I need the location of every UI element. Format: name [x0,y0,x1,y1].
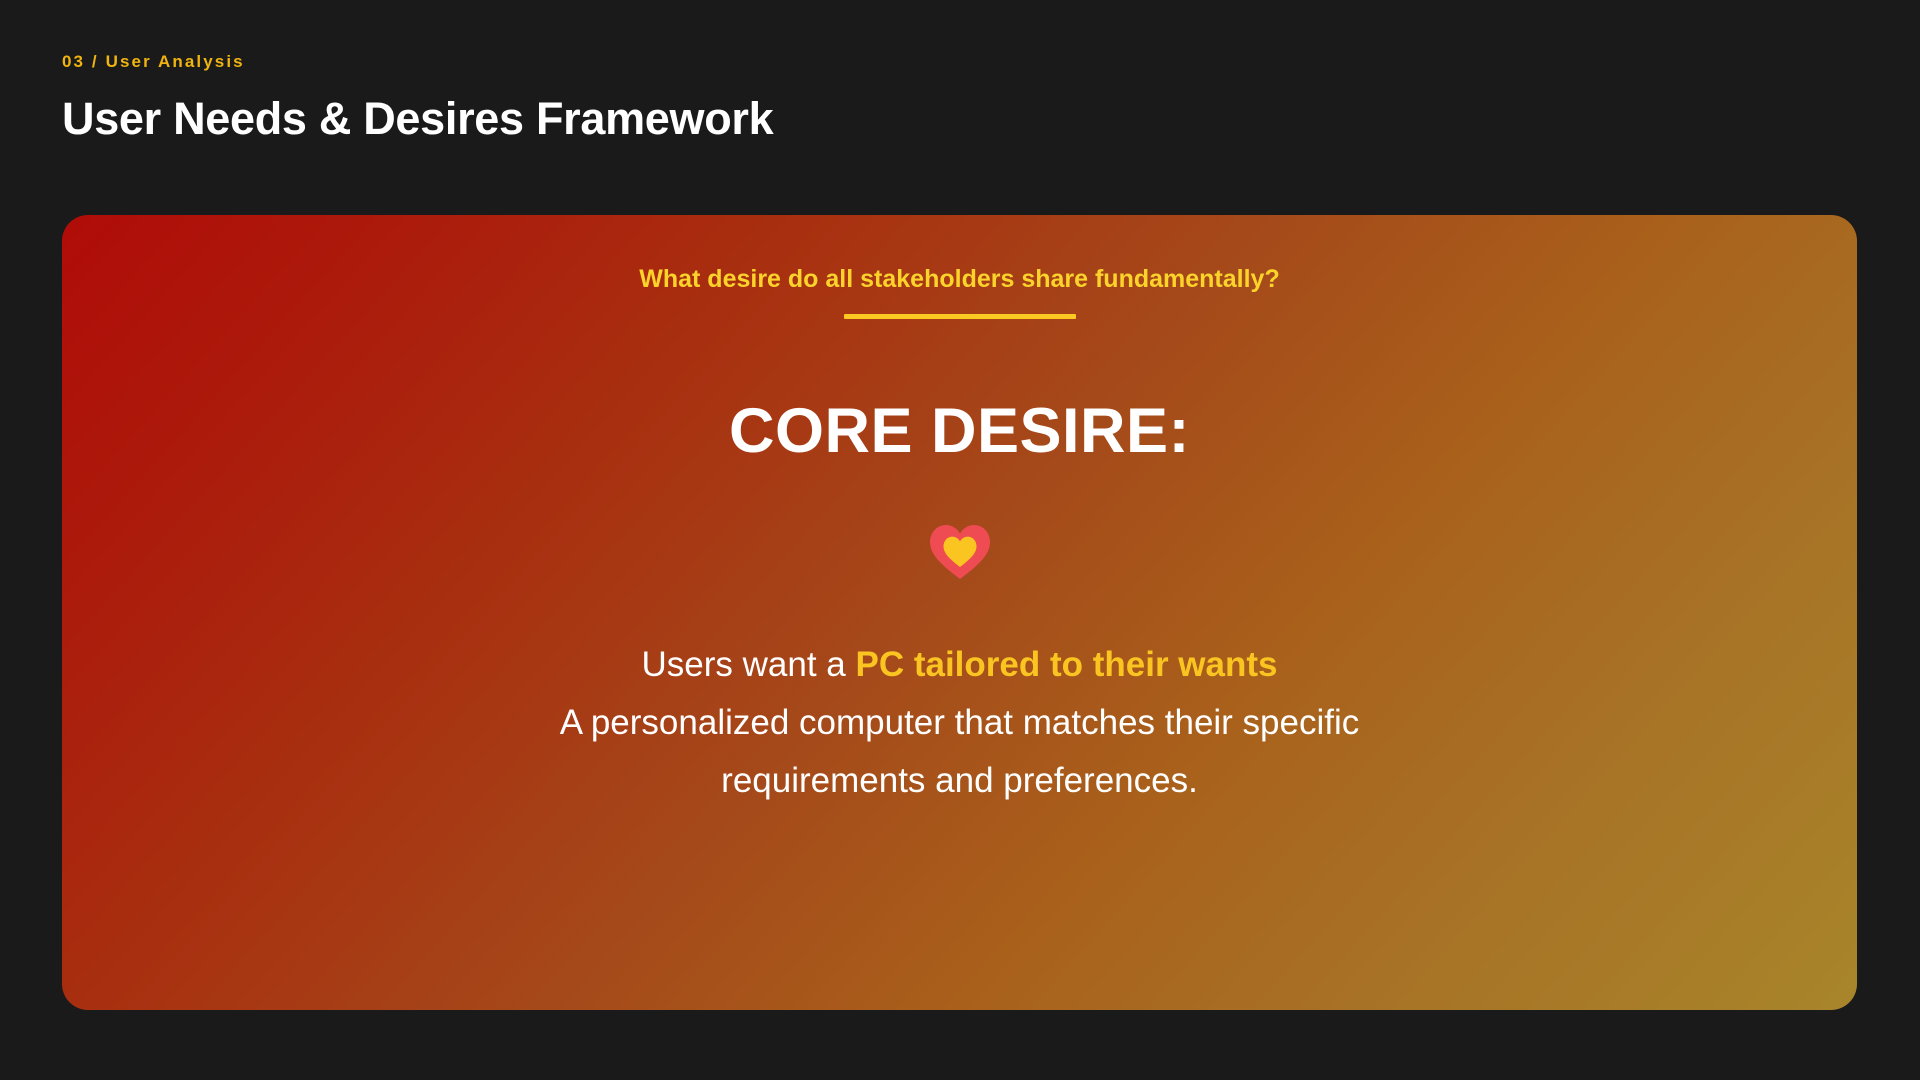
growing-heart-icon [927,522,993,582]
core-desire-heading: CORE DESIRE: [729,397,1190,466]
slide-header: 03 / User Analysis User Needs & Desires … [62,52,1262,145]
body-line-primary-plain: Users want a [642,645,856,684]
slide-eyebrow-label: 03 / User Analysis [62,52,1262,72]
card-content: What desire do all stakeholders share fu… [62,215,1857,1010]
slide-root: 03 / User Analysis User Needs & Desires … [0,0,1920,1080]
body-line-primary: Users want a PC tailored to their wants [360,636,1560,694]
core-desire-card: What desire do all stakeholders share fu… [62,215,1857,1010]
core-desire-body: Users want a PC tailored to their wants … [360,636,1560,810]
page-title: User Needs & Desires Framework [62,93,1262,145]
body-line-primary-highlight: PC tailored to their wants [855,645,1277,684]
body-line-tertiary: requirements and preferences. [360,752,1560,810]
framing-question: What desire do all stakeholders share fu… [639,263,1279,296]
question-underline-accent [844,314,1076,319]
body-line-secondary: A personalized computer that matches the… [360,694,1560,752]
